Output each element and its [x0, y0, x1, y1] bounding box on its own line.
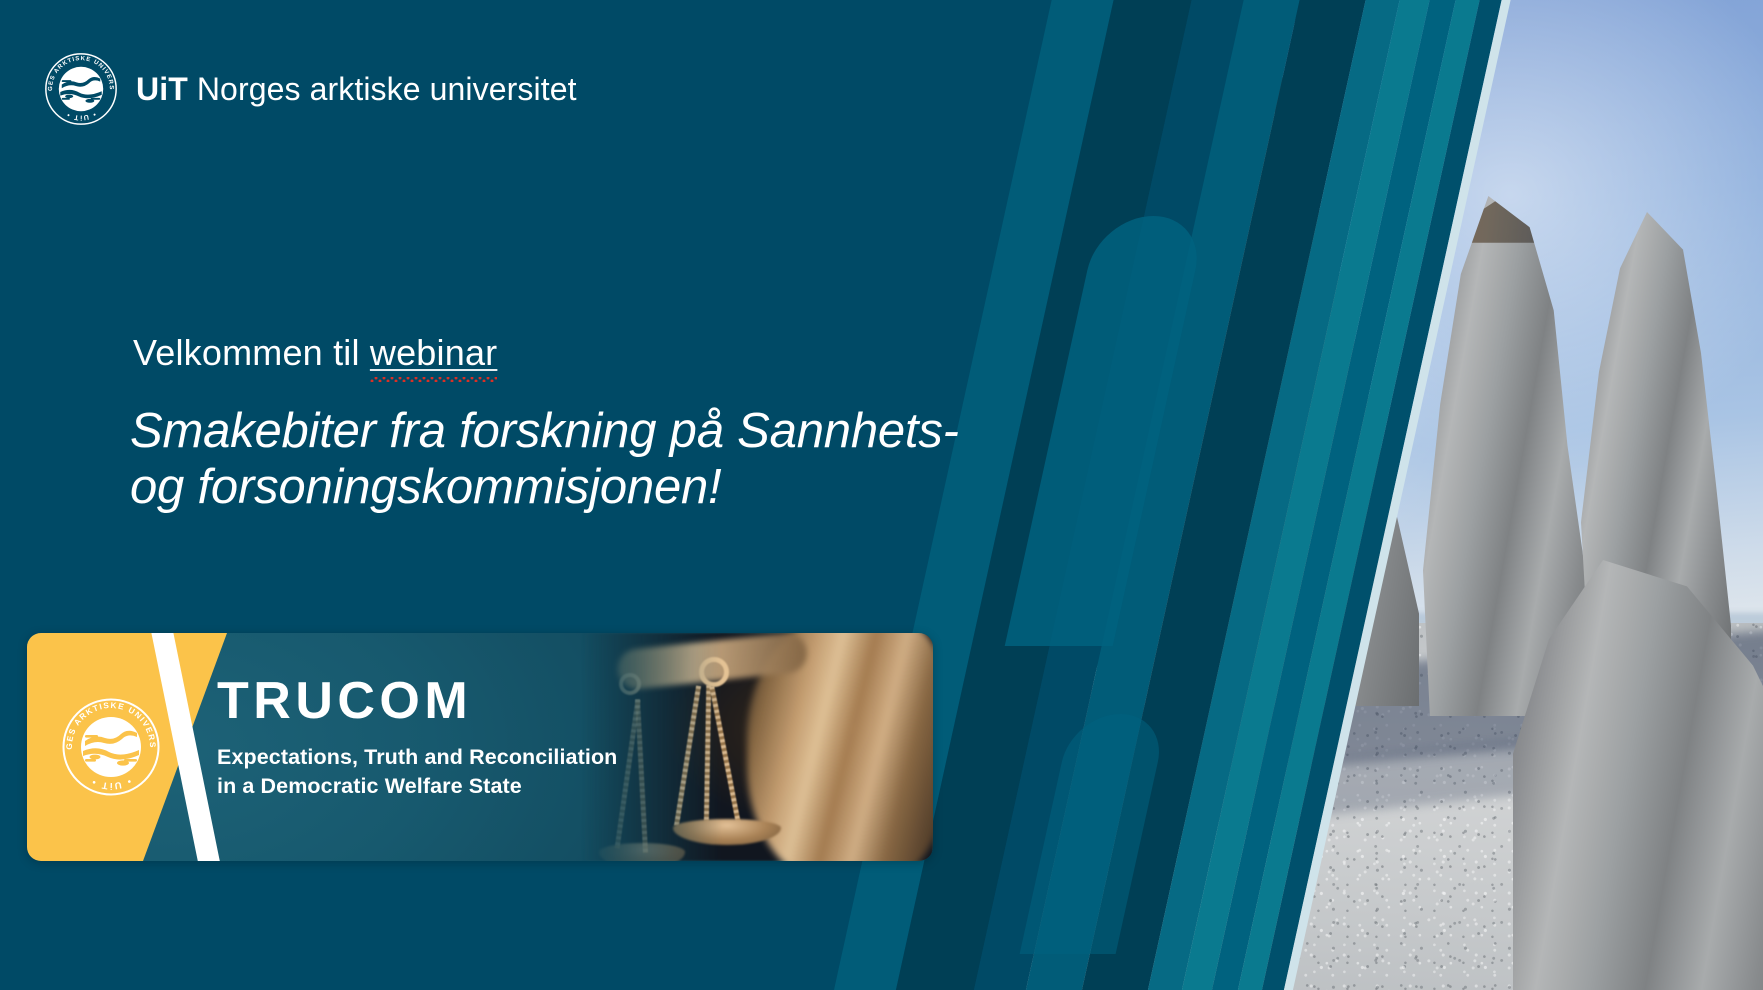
balance-pan-far: [599, 843, 685, 861]
project-name: TRUCOM: [217, 675, 617, 727]
rock-formation-photo: [953, 0, 1763, 990]
misspelled-word: webinar: [370, 332, 497, 373]
uit-wordmark-bold: UiT: [136, 71, 188, 107]
balance-ring: [699, 657, 729, 687]
tagline-line-1: Expectations, Truth and Reconciliation: [217, 743, 617, 772]
kicker-line: Velkommen til webinar: [133, 332, 497, 374]
svg-text:• UiT •: • UiT •: [65, 110, 97, 121]
project-tagline: Expectations, Truth and Reconciliation i…: [217, 743, 617, 801]
kicker-prefix: Velkommen til: [133, 332, 370, 373]
trucom-banner: NORGES ARKTISKE UNIVERSITET • UiT • TRUC…: [27, 633, 933, 861]
svg-text:• UiT •: • UiT •: [89, 775, 133, 791]
uit-seal-icon: NORGES ARKTISKE UNIVERSITET • UiT •: [44, 52, 118, 126]
slide-title: Smakebiter fra forskning på Sannhets- og…: [130, 404, 1010, 516]
presentation-slide: NORGES ARKTISKE UNIVERSITET • UiT • UiT …: [0, 0, 1763, 990]
scales-of-justice-image: [581, 633, 933, 861]
balance-ring-2: [619, 673, 641, 695]
uit-header-logo: NORGES ARKTISKE UNIVERSITET • UiT • UiT …: [44, 52, 577, 126]
banner-text-block: TRUCOM Expectations, Truth and Reconcili…: [217, 675, 617, 801]
tagline-line-2: in a Democratic Welfare State: [217, 772, 617, 801]
rock-stack-left: [957, 260, 1089, 960]
uit-wordmark: UiT Norges arktiske universitet: [136, 71, 577, 108]
banner-uit-seal-icon: NORGES ARKTISKE UNIVERSITET • UiT •: [61, 697, 161, 797]
uit-wordmark-rest: Norges arktiske universitet: [188, 71, 577, 107]
